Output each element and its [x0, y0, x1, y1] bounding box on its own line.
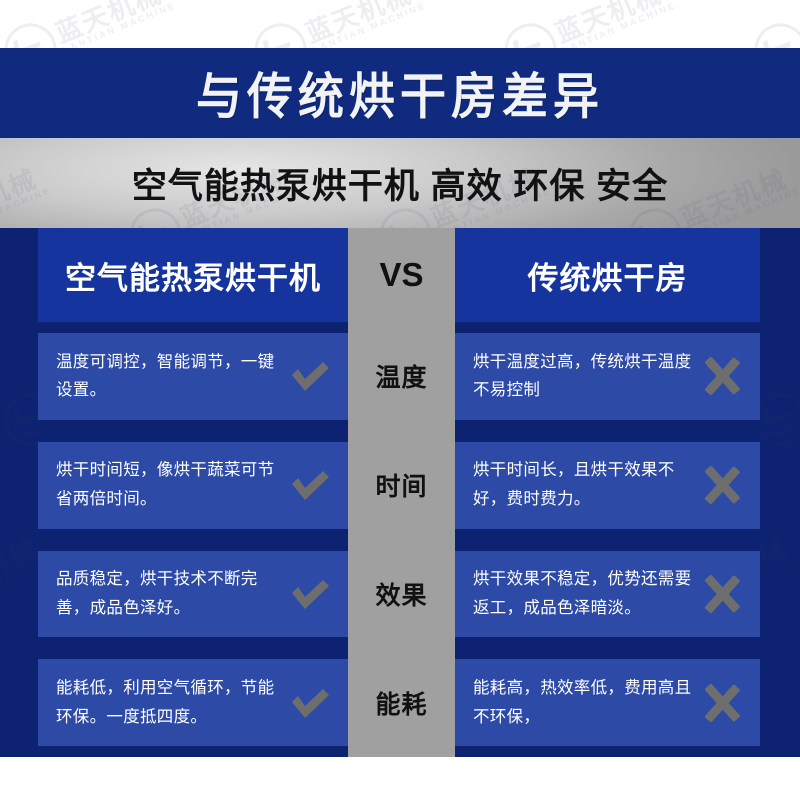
watermark-tile: 蓝天机械LANTIAN MACHINE	[0, 0, 181, 48]
cell-pro-text: 烘干时间短，像烘干蔬菜可节省两倍时间。	[56, 456, 280, 514]
page-title: 与传统烘干房差异	[196, 57, 604, 128]
cell-con-text: 烘干效果不稳定，优势还需要返工，成品色泽暗淡。	[473, 565, 697, 623]
cell-criterion: 能耗	[348, 648, 455, 757]
lantian-circle-logo-icon	[497, 16, 565, 48]
column-header-vs: VS	[348, 228, 455, 322]
watermark-tile: 蓝天机械LANTIAN MACHINE	[0, 154, 56, 228]
table-body: 温度可调控，智能调节，一键设置。温度烘干温度过高，传统烘干温度不易控制烘干时间短…	[38, 322, 760, 757]
table-row: 品质稳定，烘干技术不断完善，成品色泽好。效果烘干效果不稳定，优势还需要返工，成品…	[38, 540, 760, 649]
cross-icon	[698, 352, 746, 400]
cell-pro-text: 温度可调控，智能调节，一键设置。	[56, 348, 280, 406]
comparison-table: 空气能热泵烘干机 VS 传统烘干房 温度可调控，智能调节，一键设置。温度烘干温度…	[38, 228, 760, 757]
cell-criterion: 时间	[348, 431, 455, 540]
column-header-con-label: 传统烘干房	[528, 253, 688, 298]
page-subtitle: 空气能热泵烘干机 高效 环保 安全	[132, 158, 668, 209]
top-white-strip: 蓝天机械LANTIAN MACHINE蓝天机械LANTIAN MACHINE蓝天…	[0, 0, 800, 48]
cell-con: 烘干时间长，且烘干效果不好，费时费力。	[455, 431, 760, 540]
cell-criterion-label: 效果	[375, 576, 427, 612]
cell-pro-text: 品质稳定，烘干技术不断完善，成品色泽好。	[56, 565, 280, 623]
table-row: 温度可调控，智能调节，一键设置。温度烘干温度过高，传统烘干温度不易控制	[38, 322, 760, 431]
table-row: 能耗低，利用空气循环，节能环保。一度抵四度。能耗能耗高，热效率低，费用高且不环保…	[38, 648, 760, 757]
cell-pro-text: 能耗低，利用空气循环，节能环保。一度抵四度。	[56, 674, 280, 732]
table-header-row: 空气能热泵烘干机 VS 传统烘干房	[38, 228, 760, 322]
column-header-vs-label: VS	[379, 256, 423, 294]
cell-criterion: 温度	[348, 322, 455, 431]
check-icon	[286, 461, 334, 509]
cell-criterion-label: 能耗	[375, 685, 427, 721]
cell-con-text: 烘干温度过高，传统烘干温度不易控制	[473, 348, 697, 406]
cell-pro: 烘干时间短，像烘干蔬菜可节省两倍时间。	[38, 431, 348, 540]
column-header-con: 传统烘干房	[455, 228, 760, 322]
cell-con: 能耗高，热效率低，费用高且不环保，	[455, 648, 760, 757]
cell-criterion-label: 温度	[375, 358, 427, 394]
cell-con-text: 能耗高，热效率低，费用高且不环保，	[473, 674, 697, 732]
comparison-table-area: 蓝天机械LANTIAN MACHINE蓝天机械LANTIAN MACHINE蓝天…	[0, 228, 800, 757]
lantian-circle-logo-icon	[747, 16, 800, 48]
watermark-layer-top: 蓝天机械LANTIAN MACHINE蓝天机械LANTIAN MACHINE蓝天…	[0, 0, 800, 48]
cross-icon	[698, 679, 746, 727]
check-icon	[286, 679, 334, 727]
bottom-white-strip	[0, 757, 800, 789]
watermark-layer-bottom	[0, 757, 800, 789]
column-header-pro: 空气能热泵烘干机	[38, 228, 348, 322]
watermark-tile: 蓝天机械LANTIAN MACHINE	[497, 0, 681, 48]
watermark-tile: 蓝天机械LANTIAN MACHINE	[247, 0, 431, 48]
cell-con: 烘干效果不稳定，优势还需要返工，成品色泽暗淡。	[455, 540, 760, 649]
cell-con: 烘干温度过高，传统烘干温度不易控制	[455, 322, 760, 431]
cell-con-text: 烘干时间长，且烘干效果不好，费时费力。	[473, 456, 697, 514]
check-icon	[286, 352, 334, 400]
watermark-tile: 蓝天机械LANTIAN MACHINE	[747, 0, 800, 48]
cross-icon	[698, 461, 746, 509]
lantian-circle-logo-icon	[0, 16, 64, 48]
title-band: 与传统烘干房差异	[0, 48, 800, 138]
table-row: 烘干时间短，像烘干蔬菜可节省两倍时间。时间烘干时间长，且烘干效果不好，费时费力。	[38, 431, 760, 540]
cell-criterion-label: 时间	[375, 467, 427, 503]
cell-pro: 温度可调控，智能调节，一键设置。	[38, 322, 348, 431]
cell-pro: 能耗低，利用空气循环，节能环保。一度抵四度。	[38, 648, 348, 757]
lantian-circle-logo-icon	[247, 16, 315, 48]
cell-pro: 品质稳定，烘干技术不断完善，成品色泽好。	[38, 540, 348, 649]
column-header-pro-label: 空气能热泵烘干机	[65, 253, 321, 298]
check-icon	[286, 570, 334, 618]
subtitle-band: 蓝天机械LANTIAN MACHINE蓝天机械LANTIAN MACHINE蓝天…	[0, 138, 800, 228]
cross-icon	[698, 570, 746, 618]
cell-criterion: 效果	[348, 540, 455, 649]
